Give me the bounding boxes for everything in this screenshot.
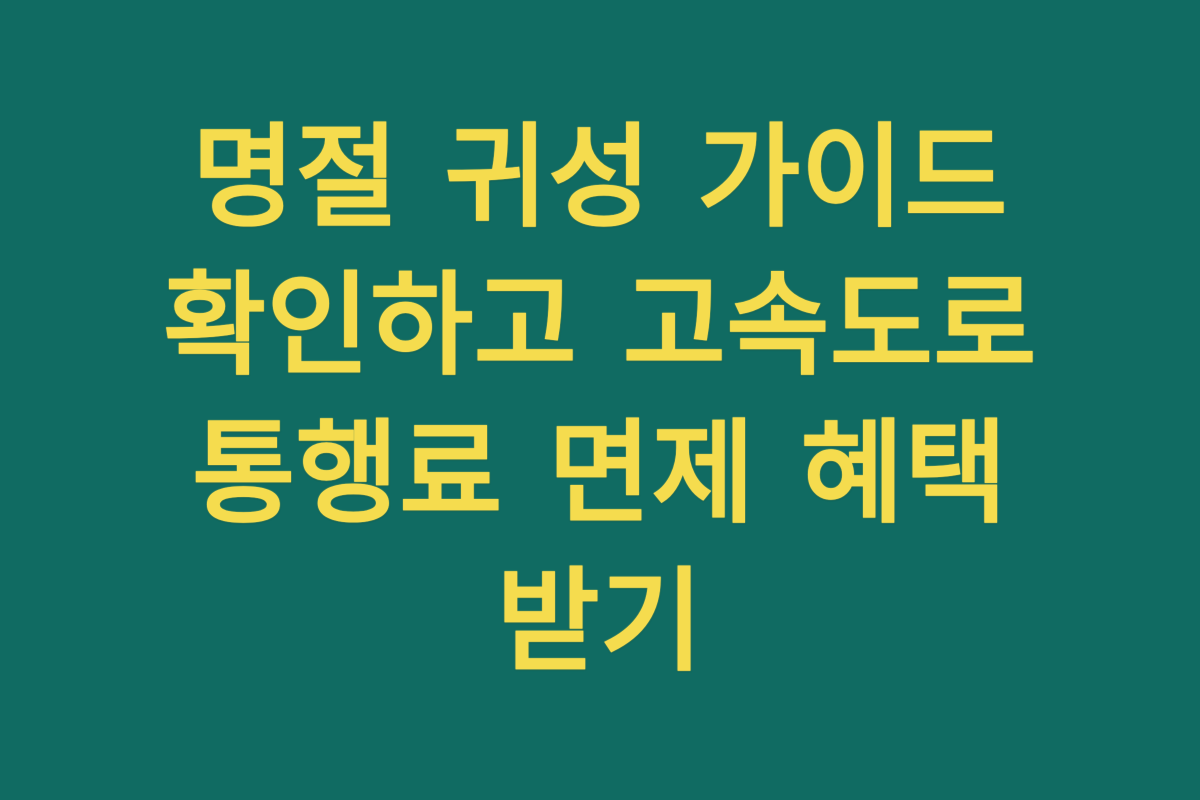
- headline-block: 명절 귀성 가이드 확인하고 고속도로 통행료 면제 혜택 받기: [70, 104, 1130, 696]
- page-title: 명절 귀성 가이드 확인하고 고속도로 통행료 면제 혜택 받기: [140, 104, 1060, 696]
- banner-canvas: 명절 귀성 가이드 확인하고 고속도로 통행료 면제 혜택 받기: [0, 0, 1200, 800]
